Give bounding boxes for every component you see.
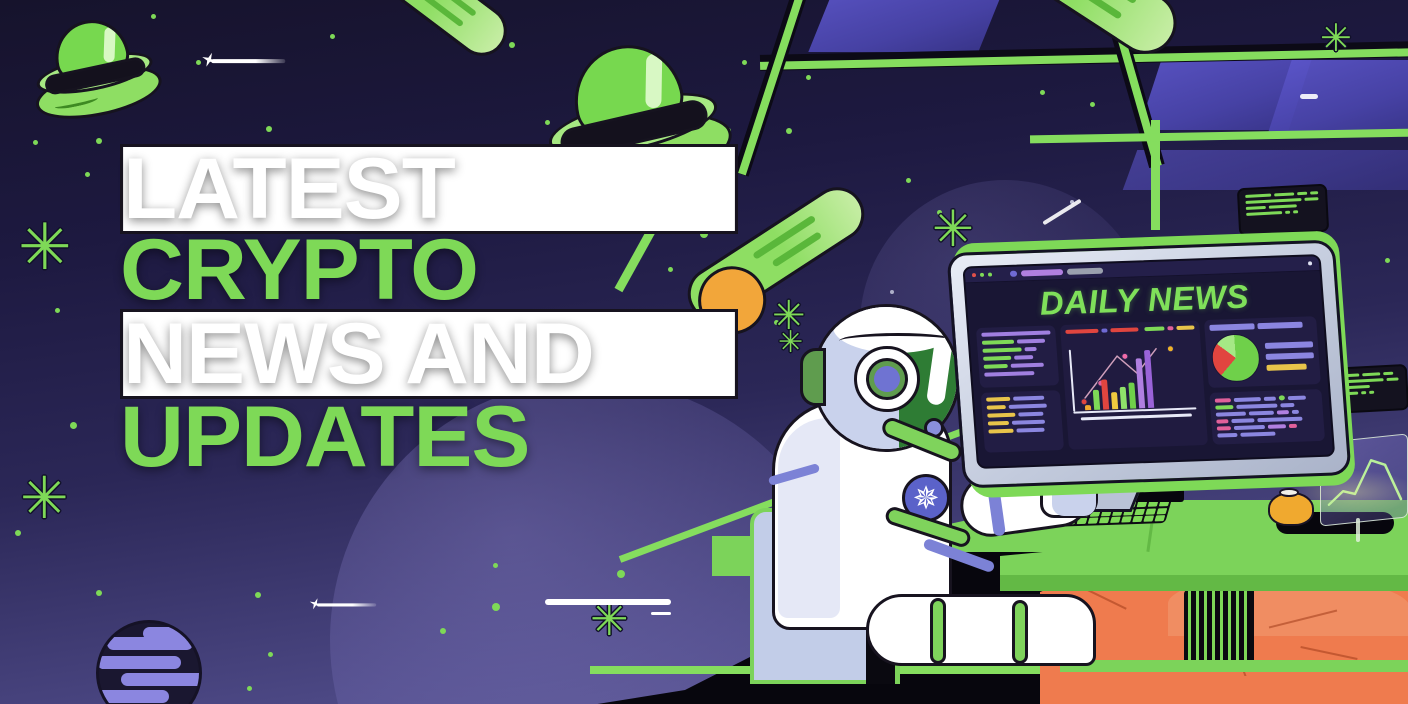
canister-right [1216,586,1254,662]
legend-bar [1177,325,1195,330]
terminal-segment [1246,206,1266,210]
monitor-screen[interactable]: DAILY NEWS [962,254,1335,469]
legend-bar [1167,326,1174,330]
chart-card [1060,320,1208,450]
text-bar [1214,398,1231,403]
terminal-segment [1369,391,1374,394]
canister-shelf [1060,660,1408,672]
text-row [1215,402,1318,410]
headline: LATEST CRYPTO NEWS AND UPDATES [120,144,720,479]
legend-bar [1110,327,1138,332]
monitor-bezel: DAILY NEWS [946,240,1351,489]
text-bar [1289,424,1297,428]
bar [1093,390,1100,410]
text-bar [1012,420,1046,425]
text-bar [1024,347,1037,351]
text-bar [984,371,1034,377]
star-dot [268,652,273,657]
bar [1111,392,1118,409]
browser-tab-inactive[interactable] [1067,268,1103,275]
comet-top-left [341,0,516,66]
terminal-segment [1297,192,1307,196]
bar [1129,383,1137,409]
text-bar [1292,410,1299,414]
astronaut-leg-trim-2 [1012,600,1028,664]
beam-horizontal-mid [1030,129,1408,144]
text-bar [986,397,1010,402]
headline-line-3: NEWS AND [120,309,738,399]
dashboard-center-column [1060,320,1208,450]
text-row [987,411,1057,417]
text-row [982,338,1052,344]
terminal-line [1246,209,1320,216]
text-row [984,362,1054,368]
light-streak [651,612,671,615]
terminal-segment [1362,372,1380,376]
right-card-bottom [1209,389,1325,445]
text-bar [1017,339,1045,344]
console-desk-front-shadow [1000,575,1408,591]
coffee-mug [1268,492,1314,526]
mug-cup [1268,492,1314,526]
mars-terrain-fg [1056,676,1408,704]
text-bar [1009,404,1047,409]
text-bar [1234,397,1261,402]
text-bar [1268,424,1287,429]
star-dot [806,75,811,80]
text-bar [982,347,1021,352]
text-bar [1257,417,1302,423]
crypto-news-banner: ✳ ✳ ✳ ✳ ✳ ✳ ✳ ✳ ✳ [0,0,1408,704]
light-streak [545,599,671,605]
text-row [1217,423,1320,431]
text-bar [983,356,1011,361]
pie-chart [1210,333,1262,383]
headline-line-2: CRYPTO [120,228,738,312]
pie-legend-bar [1266,363,1307,370]
text-row [1214,394,1317,403]
text-bar [1013,396,1045,401]
star-dot [440,628,446,634]
legend-bar [1101,328,1108,332]
star-dot [255,592,261,598]
pie-legend-bar [1265,341,1314,349]
text-bar [1236,404,1277,409]
terminal-segment [1274,192,1294,196]
star-dot [55,308,60,313]
shooting-star-tail [317,603,376,606]
astronaut-leg [866,594,1096,666]
legend-bar [1065,329,1098,334]
legend-bar [1144,326,1164,331]
window-glass-4 [1123,150,1408,190]
astronaut-helmet-side-pad [800,348,826,406]
star-dot [509,42,515,48]
text-bar [1018,412,1043,417]
pie-legend-bar [1265,352,1314,360]
text-bar [988,429,1013,434]
chart-footer-bar [1081,414,1192,421]
astronaut-earpiece-center [874,366,900,392]
text-bar [1288,395,1307,400]
text-row [1216,416,1319,424]
terminal-top-right[interactable] [1237,184,1329,237]
text-bar [982,340,1014,345]
bar [1085,405,1091,410]
star-dot [617,570,625,578]
terminal-segment [1245,198,1301,204]
monitor[interactable]: DAILY NEWS [946,240,1351,489]
star-dot [85,172,90,177]
star-dot [906,178,911,183]
text-row [1217,430,1320,438]
text-bar [1280,403,1295,407]
browser-tab-active[interactable] [1021,269,1063,276]
beam-diag-left [738,0,820,175]
text-bar [1216,412,1247,417]
text-bar [1234,425,1265,430]
terminal-segment [1293,210,1298,213]
dashboard [969,316,1333,460]
right-card-top [1204,316,1321,388]
browser-menu-dot[interactable] [1308,261,1312,265]
bar [1120,387,1128,409]
window-minimize-dot[interactable] [980,273,984,277]
terminal-segment [1361,391,1366,394]
window-maximize-dot[interactable] [988,272,992,276]
text-bar [1249,411,1274,416]
text-bar [1216,419,1229,423]
terminal-segment [1245,194,1271,198]
text-bar [1279,395,1285,400]
terminal-segment [1246,211,1282,216]
star-dot [33,140,38,145]
terminal-segment [1310,191,1318,194]
star-dot [493,563,498,568]
bar [1101,379,1109,409]
star-dot [1090,102,1095,107]
star-dot [96,590,102,596]
star-dot [247,686,252,691]
text-bar [1231,418,1254,423]
text-bar [984,364,1008,369]
terminal-segment [1304,197,1318,201]
dashboard-left-column [976,325,1064,452]
text-bar [1257,322,1302,330]
text-row [986,395,1056,401]
text-row [982,346,1052,352]
sparkle-icon: ✳ [1320,20,1352,58]
star-dot [196,60,201,65]
text-row [987,403,1057,409]
text-bar [1263,396,1276,400]
headline-line-1: LATEST [120,144,738,234]
text-row [1216,409,1319,417]
hologram-beam [1356,518,1360,542]
window-close-dot[interactable] [972,273,976,277]
shooting-star-tail [211,59,285,63]
terminal-segment [1269,204,1297,208]
text-bar [1215,405,1234,410]
bar [1136,358,1146,408]
text-bar [1014,355,1034,360]
light-streak [1300,94,1318,99]
star-dot [1385,258,1390,263]
text-row [988,419,1058,425]
text-row [1209,321,1312,331]
sparkle-icon: ✳ [18,215,72,279]
comet-body [341,0,516,66]
text-row [983,354,1053,360]
left-card-bottom [981,390,1065,453]
text-bar [987,405,1007,410]
text-bar [1016,428,1044,433]
astronaut-glove-fingers [1052,492,1096,516]
astronaut-torso-shade [778,418,840,618]
star-dot [1040,90,1045,95]
star-dot [266,126,272,132]
ufo-small-top-left [21,8,167,132]
text-bar [1217,426,1232,430]
left-card-top [976,325,1060,388]
window-glass-1 [808,0,1001,52]
dashboard-right-column [1204,316,1325,445]
planet-striped-bottom-left [96,620,202,704]
chart-plot-area [1066,331,1200,413]
window-glass-3 [1268,60,1408,132]
chart-bar-series [1081,344,1155,410]
text-bar [1209,323,1254,331]
browser-tab-indicator[interactable] [1010,271,1017,277]
star-dot [786,128,792,134]
star-dot [330,34,335,39]
terminal-segment [1383,372,1393,376]
text-bar [1277,410,1290,414]
terminal-segment [1386,377,1398,381]
astronaut-leg-trim-1 [930,598,946,664]
headline-line-4: UPDATES [120,395,738,479]
text-bar [1241,432,1276,437]
star-dot [96,138,102,144]
star-dot [742,60,747,65]
star-dot [70,422,77,429]
text-bar [981,330,1051,336]
text-bar [987,413,1015,418]
star-dot [151,14,156,19]
text-bar [1010,363,1044,368]
sparkle-icon: ✳ [20,470,69,528]
text-bar [988,421,1009,426]
star-badge-icon: ✵ [913,482,940,514]
star-dot [890,290,894,294]
text-row [988,427,1058,433]
text-bar [1217,433,1238,438]
terminal-segment [1285,211,1290,214]
sparkle-icon: ✳ [778,328,803,358]
star-dot [492,603,500,611]
